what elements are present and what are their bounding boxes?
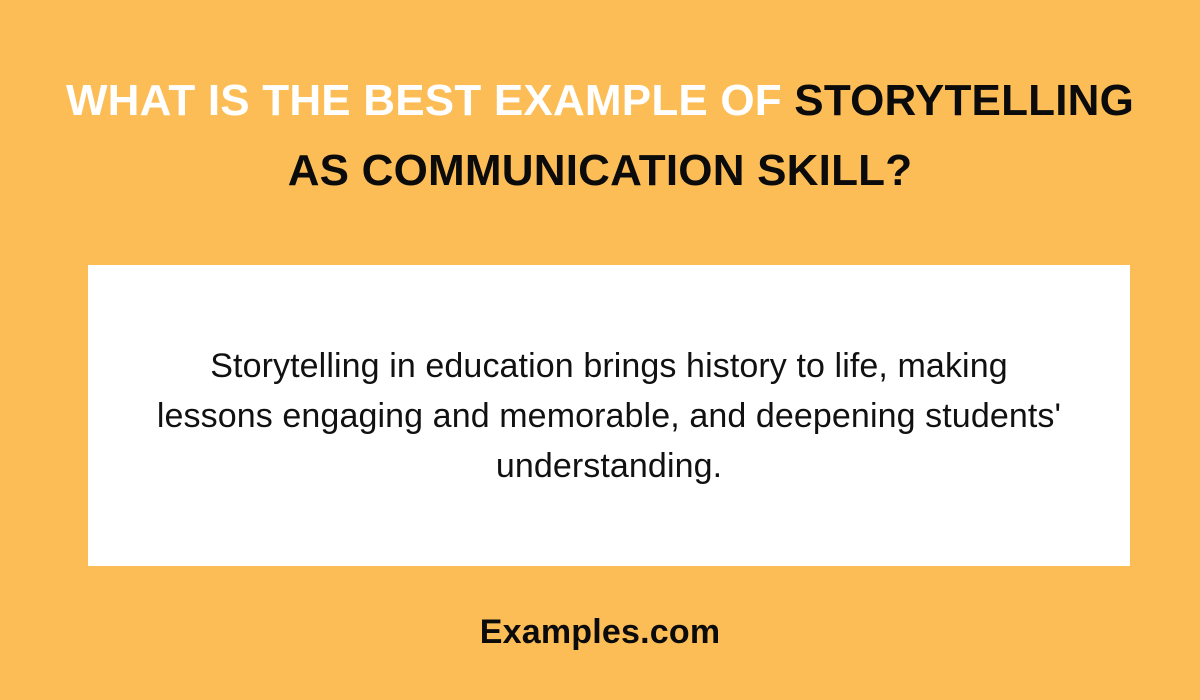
infographic-canvas: What is the best example of Storytelling… <box>0 0 1200 700</box>
footer-brand: Examples.com <box>0 612 1200 652</box>
page-title-lead: What is the best example of <box>66 76 794 125</box>
answer-card-body: Storytelling in education brings history… <box>129 341 1089 491</box>
answer-card: Storytelling in education brings history… <box>88 265 1130 566</box>
page-title: What is the best example of Storytelling… <box>50 66 1150 206</box>
